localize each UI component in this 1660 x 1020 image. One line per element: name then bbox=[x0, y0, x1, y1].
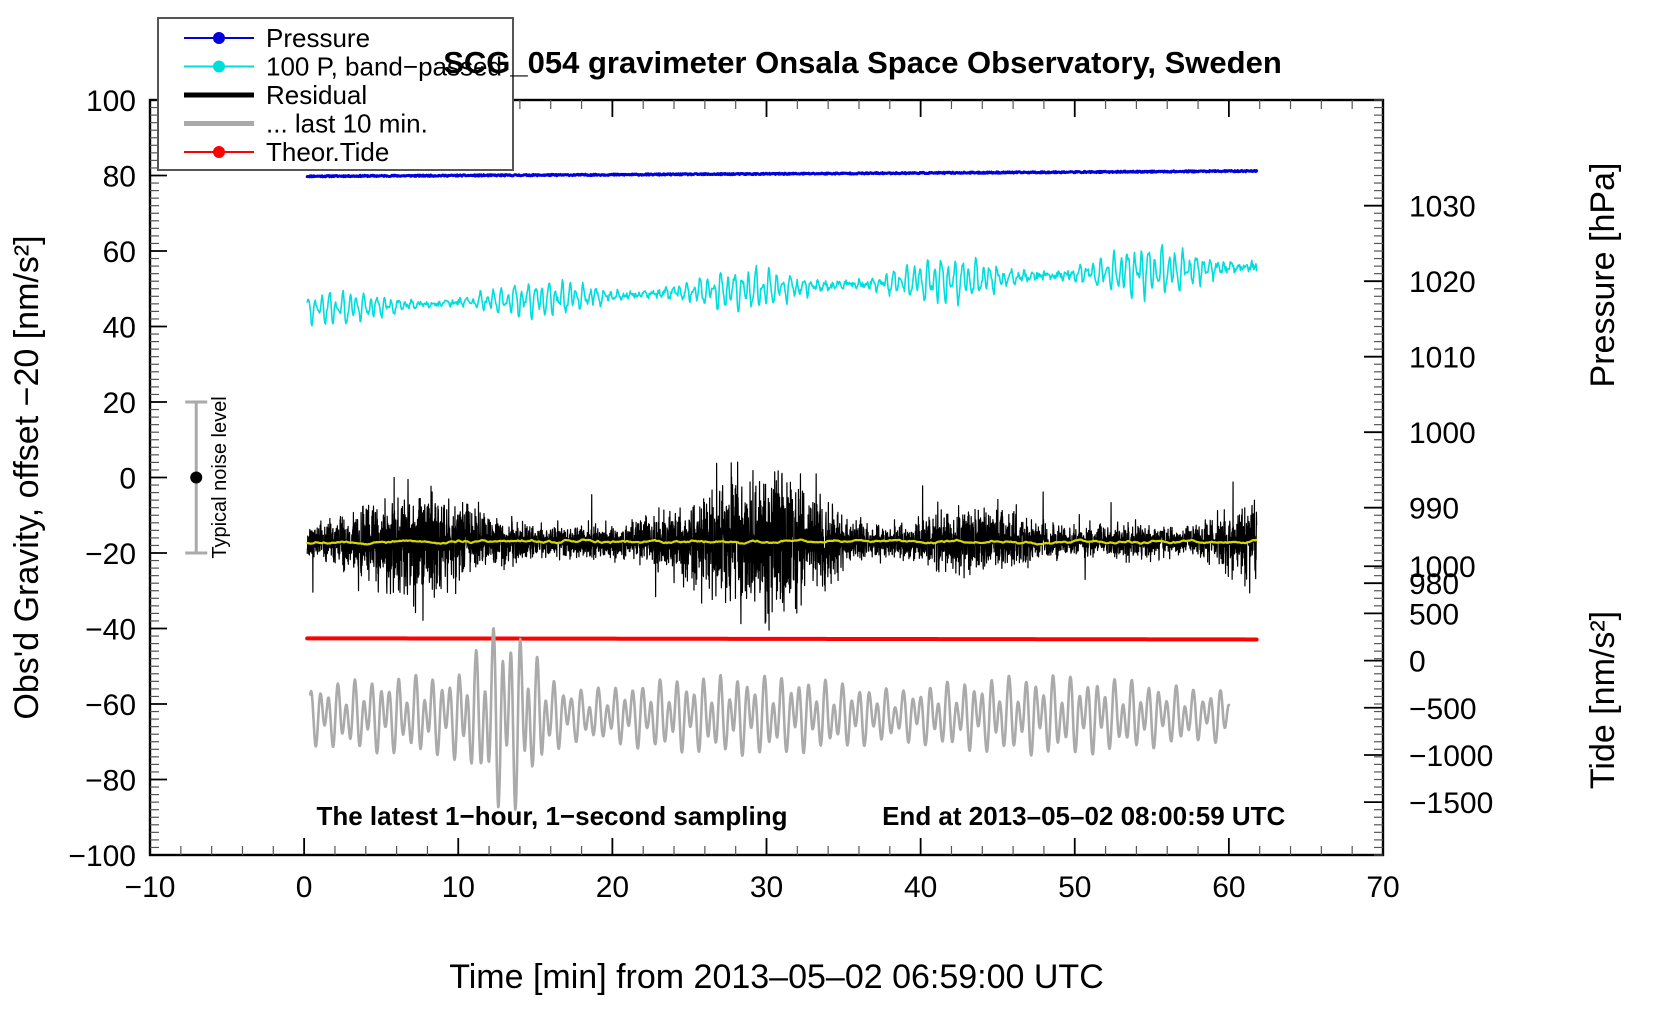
y-tick-label-left: −80 bbox=[85, 765, 136, 798]
x-tick-label: 10 bbox=[442, 871, 475, 904]
legend-label: ... last 10 min. bbox=[266, 109, 428, 139]
x-tick-label: 40 bbox=[904, 871, 937, 904]
x-tick-label: 70 bbox=[1366, 871, 1399, 904]
y-tick-label-tide: −1500 bbox=[1409, 787, 1493, 820]
x-tick-label: 50 bbox=[1058, 871, 1091, 904]
y-tick-label-left: 40 bbox=[103, 312, 136, 345]
series-theoretical-tide bbox=[307, 638, 1256, 639]
y-tick-label-left: 80 bbox=[103, 161, 136, 194]
y-tick-label-left: −60 bbox=[85, 689, 136, 722]
y-tick-label-left: −100 bbox=[68, 840, 136, 873]
y-tick-label-pressure: 1020 bbox=[1409, 266, 1476, 299]
bottom-left-note: The latest 1−hour, 1−second sampling bbox=[316, 801, 787, 831]
y-tick-label-pressure: 1000 bbox=[1409, 417, 1476, 450]
legend-marker-dot bbox=[213, 61, 225, 73]
legend-label: Pressure bbox=[266, 23, 370, 53]
page-title: SCG_054 gravimeter Onsala Space Observat… bbox=[443, 45, 1282, 80]
y-tick-label-tide: 0 bbox=[1409, 646, 1426, 679]
noise-marker-label: Typical noise level bbox=[209, 396, 231, 558]
legend-marker-dot bbox=[213, 146, 225, 158]
x-tick-label: 60 bbox=[1212, 871, 1245, 904]
y-axis-title-left: Obs'd Gravity, offset −20 [nm/s²] bbox=[8, 235, 46, 719]
y-tick-label-pressure: 990 bbox=[1409, 493, 1459, 526]
y-axis-title-tide: Tide [nm/s²] bbox=[1584, 611, 1622, 789]
y-tick-label-pressure: 1030 bbox=[1409, 191, 1476, 224]
legend-label: Residual bbox=[266, 80, 367, 110]
bottom-right-note: End at 2013–05–02 08:00:59 UTC bbox=[882, 801, 1285, 831]
x-tick-label: 0 bbox=[296, 871, 313, 904]
y-tick-label-tide: −1000 bbox=[1409, 740, 1493, 773]
noise-center-dot bbox=[190, 472, 202, 484]
legend-marker-dot bbox=[213, 32, 225, 44]
x-axis-title: Time [min] from 2013–05–02 06:59:00 UTC bbox=[449, 958, 1104, 996]
y-tick-label-tide: 500 bbox=[1409, 598, 1459, 631]
y-tick-label-pressure: 1010 bbox=[1409, 342, 1476, 375]
x-tick-label: −10 bbox=[125, 871, 176, 904]
legend-group[interactable]: Pressure100 P, band−passedResidual... la… bbox=[158, 18, 513, 170]
x-tick-label: 20 bbox=[596, 871, 629, 904]
gravimeter-chart: −10010203040506070100806040200−20−40−60−… bbox=[0, 0, 1660, 1020]
y-tick-label-left: 0 bbox=[119, 463, 136, 496]
y-axis-title-pressure: Pressure [hPa] bbox=[1584, 163, 1622, 388]
legend-label: Theor.Tide bbox=[266, 137, 389, 167]
chart-root: −10010203040506070100806040200−20−40−60−… bbox=[0, 0, 1660, 1020]
y-tick-label-left: 100 bbox=[86, 85, 136, 118]
x-tick-label: 30 bbox=[750, 871, 783, 904]
y-tick-label-left: −40 bbox=[85, 614, 136, 647]
y-tick-label-tide: −500 bbox=[1409, 693, 1477, 726]
y-tick-label-left: −20 bbox=[85, 538, 136, 571]
y-tick-label-tide: 1000 bbox=[1409, 551, 1476, 584]
y-tick-label-left: 60 bbox=[103, 236, 136, 269]
y-tick-label-left: 20 bbox=[103, 387, 136, 420]
